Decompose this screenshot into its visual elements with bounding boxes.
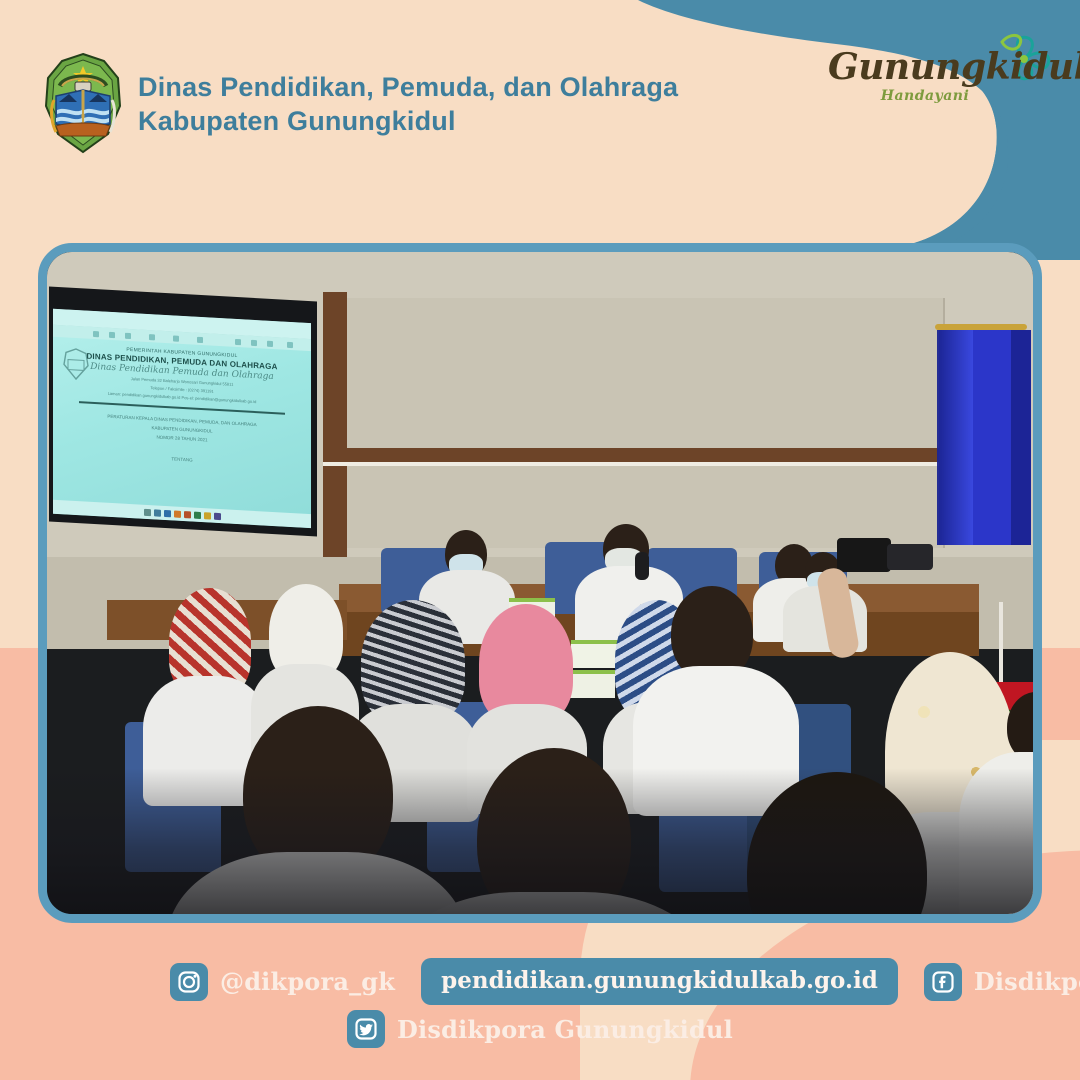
slide-document: PEMERINTAH KABUPATEN GUNUNGKIDUL DINAS P… <box>67 344 297 506</box>
event-photo: PEMERINTAH KABUPATEN GUNUNGKIDUL DINAS P… <box>47 252 1033 914</box>
curtain-right <box>1011 330 1031 545</box>
wall-panel <box>793 298 945 548</box>
twitter-account-name[interactable]: Disdikpora Gunungkidul <box>397 1015 733 1044</box>
microphone-icon <box>635 552 649 580</box>
instagram-icon[interactable] <box>170 963 208 1001</box>
instagram-handle[interactable]: @dikpora_gk <box>220 967 395 996</box>
camera-lens <box>887 544 933 570</box>
camera-device <box>837 538 891 572</box>
projector-screen: PEMERINTAH KABUPATEN GUNUNGKIDUL DINAS P… <box>53 309 311 528</box>
footer-social-bar: @dikpora_gk pendidikan.gunungkidulkab.go… <box>0 940 1080 1080</box>
page-title-line2: Kabupaten Gunungkidul <box>138 104 758 138</box>
footer-row-secondary: Disdikpora Gunungkidul <box>0 1010 1080 1048</box>
facebook-page-name[interactable]: Disdikpora Gunungkidul <box>974 967 1080 996</box>
page-title: Dinas Pendidikan, Pemuda, dan Olahraga K… <box>138 70 758 138</box>
wall-beam-vertical <box>323 292 347 592</box>
website-url-pill[interactable]: pendidikan.gunungkidulkab.go.id <box>421 958 898 1005</box>
wall-panel <box>347 298 497 548</box>
slide-tentang-line: TENTANG <box>67 451 297 469</box>
gunungkidul-coat-of-arms-icon <box>42 52 124 156</box>
event-photo-card: PEMERINTAH KABUPATEN GUNUNGKIDUL DINAS P… <box>38 243 1042 923</box>
brand-wordmark: Gunungkidul <box>828 46 1038 88</box>
wall-panel <box>495 298 645 548</box>
brand-tagline: Handayani <box>850 88 1000 104</box>
social-media-card: Dinas Pendidikan, Pemuda, dan Olahraga K… <box>0 0 1080 1080</box>
curtain-left <box>937 330 973 545</box>
wall-trim <box>323 462 1023 466</box>
twitter-icon[interactable] <box>347 1010 385 1048</box>
footer-row-primary: @dikpora_gk pendidikan.gunungkidulkab.go… <box>170 958 1080 1005</box>
wall-panel <box>643 298 795 548</box>
wall-beam-horizontal <box>323 448 1023 462</box>
page-title-line1: Dinas Pendidikan, Pemuda, dan Olahraga <box>138 72 678 102</box>
projector-screen-frame: PEMERINTAH KABUPATEN GUNUNGKIDUL DINAS P… <box>49 287 317 537</box>
photo-foreground-shadow <box>47 768 1033 914</box>
gunungkidul-brandmark: Gunungkidul Handayani <box>828 36 1058 124</box>
header: Dinas Pendidikan, Pemuda, dan Olahraga K… <box>0 0 1080 230</box>
facebook-icon[interactable] <box>924 963 962 1001</box>
